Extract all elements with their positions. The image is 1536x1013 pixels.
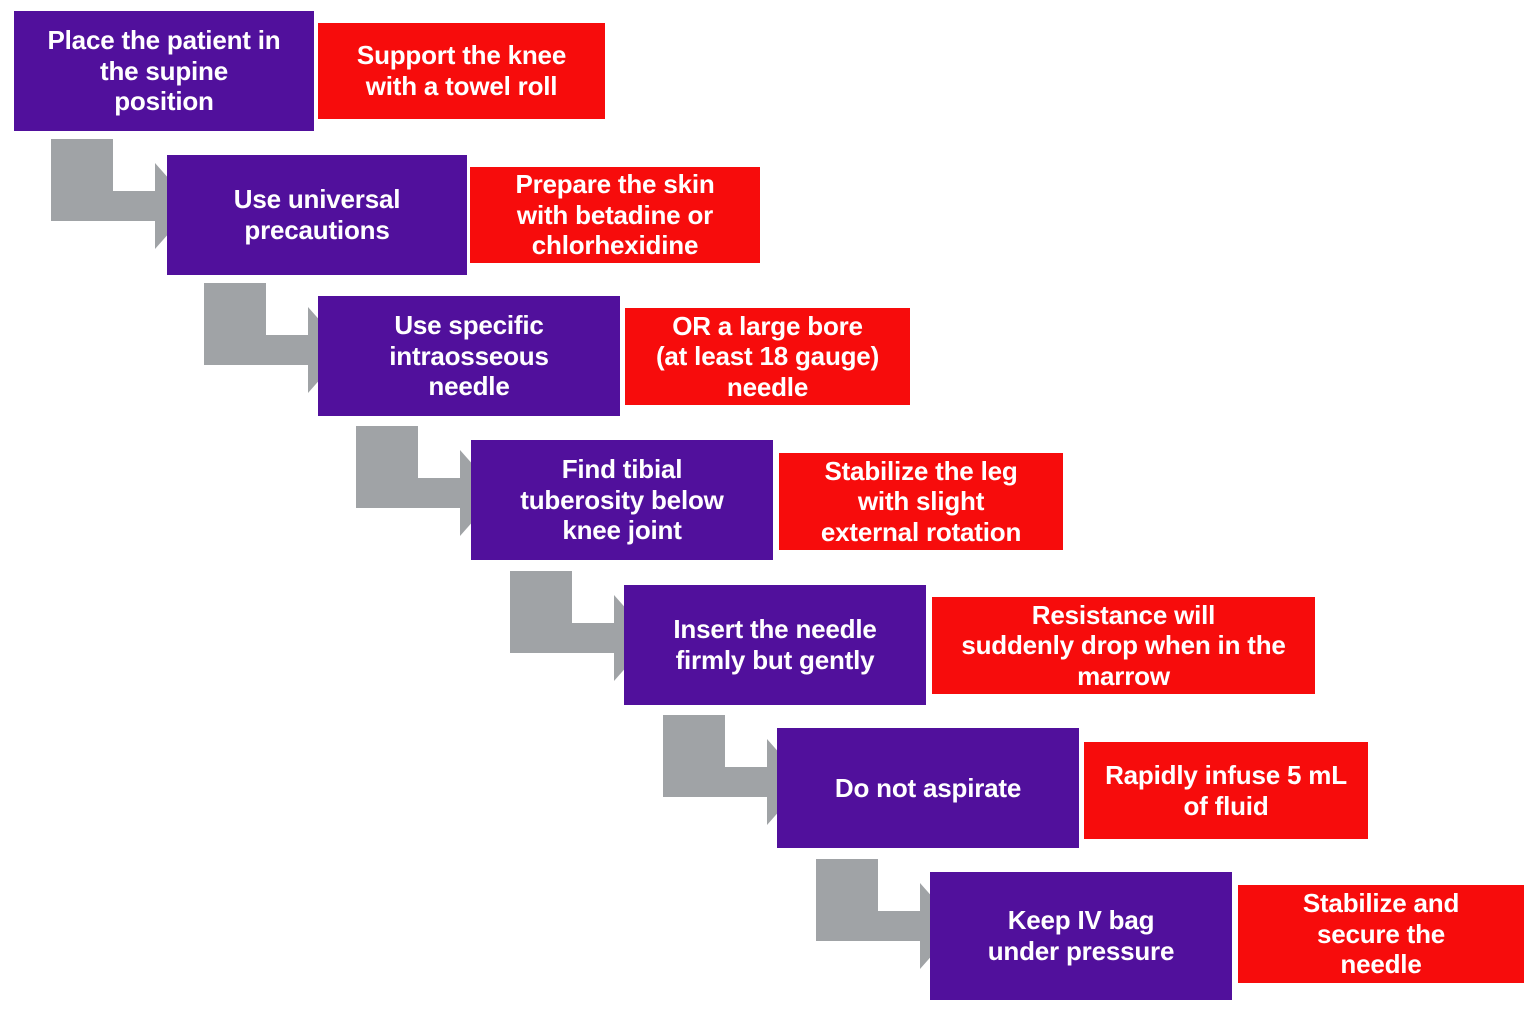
note-box-6[interactable]: Rapidly infuse 5 mL of fluid — [1084, 742, 1368, 839]
note-label-6: Rapidly infuse 5 mL of fluid — [1094, 760, 1358, 821]
note-box-4[interactable]: Stabilize the leg with slight external r… — [779, 453, 1063, 550]
step-label-7: Keep IV bag under pressure — [940, 905, 1222, 966]
note-box-1[interactable]: Support the knee with a towel roll — [318, 23, 605, 119]
step-box-4[interactable]: Find tibial tuberosity below knee joint — [471, 440, 773, 560]
step-box-6[interactable]: Do not aspirate — [777, 728, 1079, 848]
flowchart-canvas: Place the patient in the supine position… — [0, 0, 1536, 1013]
note-box-2[interactable]: Prepare the skin with betadine or chlorh… — [470, 167, 760, 263]
note-label-4: Stabilize the leg with slight external r… — [789, 456, 1053, 548]
note-label-7: Stabilize and secure the needle — [1248, 888, 1514, 980]
step-box-3[interactable]: Use specific intraosseous needle — [318, 296, 620, 416]
note-box-7[interactable]: Stabilize and secure the needle — [1238, 885, 1524, 983]
step-box-5[interactable]: Insert the needle firmly but gently — [624, 585, 926, 705]
note-label-1: Support the knee with a towel roll — [328, 40, 595, 101]
note-label-3: OR a large bore (at least 18 gauge) need… — [635, 311, 900, 403]
note-box-5[interactable]: Resistance will suddenly drop when in th… — [932, 597, 1315, 694]
step-label-5: Insert the needle firmly but gently — [634, 614, 916, 675]
step-label-6: Do not aspirate — [787, 773, 1069, 804]
step-box-7[interactable]: Keep IV bag under pressure — [930, 872, 1232, 1000]
step-label-4: Find tibial tuberosity below knee joint — [481, 454, 763, 546]
step-label-2: Use universal precautions — [177, 184, 457, 245]
note-box-3[interactable]: OR a large bore (at least 18 gauge) need… — [625, 308, 910, 405]
step-box-2[interactable]: Use universal precautions — [167, 155, 467, 275]
note-label-5: Resistance will suddenly drop when in th… — [942, 600, 1305, 692]
step-box-1[interactable]: Place the patient in the supine position — [14, 11, 314, 131]
step-label-3: Use specific intraosseous needle — [328, 310, 610, 402]
note-label-2: Prepare the skin with betadine or chlorh… — [480, 169, 750, 261]
step-label-1: Place the patient in the supine position — [24, 25, 304, 117]
